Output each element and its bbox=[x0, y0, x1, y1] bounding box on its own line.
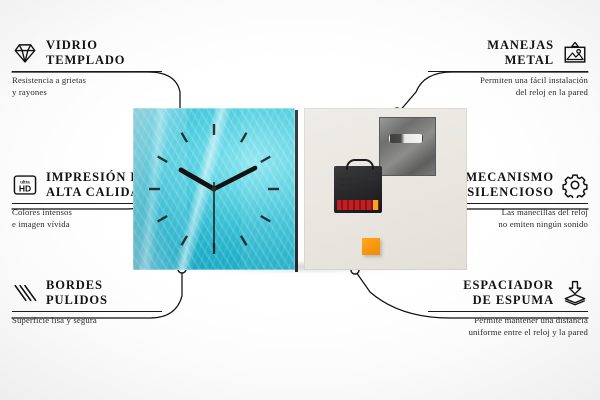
feature-title: MECANISMOSILENCIOSO bbox=[465, 170, 554, 200]
framed-picture-icon bbox=[562, 40, 588, 66]
feature-manejas-metal: MANEJASMETAL Permiten una fácil instalac… bbox=[428, 38, 588, 98]
feature-title: MANEJASMETAL bbox=[487, 38, 554, 68]
mechanism-bail bbox=[346, 159, 374, 170]
feature-vidrio-templado: VIDRIOTEMPLADO Resistencia a grietasy ra… bbox=[12, 38, 162, 98]
mechanism-detail bbox=[339, 184, 369, 186]
diagonal-lines-icon bbox=[12, 280, 38, 306]
product-photo bbox=[133, 108, 467, 273]
feature-subtitle: Permite mantener una distanciauniforme e… bbox=[428, 315, 588, 338]
metal-hanger-plate bbox=[379, 117, 436, 176]
svg-text:HD: HD bbox=[19, 183, 31, 193]
feature-subtitle: Permiten una fácil instalacióndel reloj … bbox=[428, 75, 588, 98]
battery-terminal bbox=[373, 200, 378, 210]
divider bbox=[12, 311, 162, 312]
divider bbox=[428, 311, 588, 312]
divider bbox=[428, 71, 588, 72]
foam-spacer bbox=[362, 238, 380, 255]
feature-title: BORDESPULIDOS bbox=[46, 278, 108, 308]
feature-subtitle: Resistencia a grietasy rayones bbox=[12, 75, 162, 98]
clock-front bbox=[133, 108, 295, 270]
clock-face bbox=[133, 108, 295, 270]
feature-title: VIDRIOTEMPLADO bbox=[46, 38, 125, 68]
diamond-icon bbox=[12, 40, 38, 66]
minute-hand bbox=[214, 168, 255, 189]
clock-side-edge bbox=[295, 110, 298, 272]
gear-icon bbox=[562, 172, 588, 198]
divider bbox=[12, 71, 162, 72]
ultra-hd-icon: ultra HD bbox=[12, 172, 38, 198]
hour-hand bbox=[181, 170, 214, 189]
arrow-into-layers-icon bbox=[562, 280, 588, 306]
hands-hub bbox=[211, 186, 216, 191]
feature-bordes-pulidos: BORDESPULIDOS Superficie lisa y segura bbox=[12, 278, 162, 327]
feature-title: ESPACIADORDE ESPUMA bbox=[463, 278, 554, 308]
quartz-clock-mechanism bbox=[334, 166, 382, 213]
mechanism-detail bbox=[339, 178, 377, 180]
hanger-slot bbox=[389, 134, 423, 143]
feature-subtitle: Superficie lisa y segura bbox=[12, 315, 162, 327]
clock-back-panel bbox=[304, 108, 467, 270]
aa-battery bbox=[337, 200, 379, 210]
feature-espaciador-de-espuma: ESPACIADORDE ESPUMA Permite mantener una… bbox=[428, 278, 588, 338]
infographic-canvas: VIDRIOTEMPLADO Resistencia a grietasy ra… bbox=[0, 0, 600, 400]
